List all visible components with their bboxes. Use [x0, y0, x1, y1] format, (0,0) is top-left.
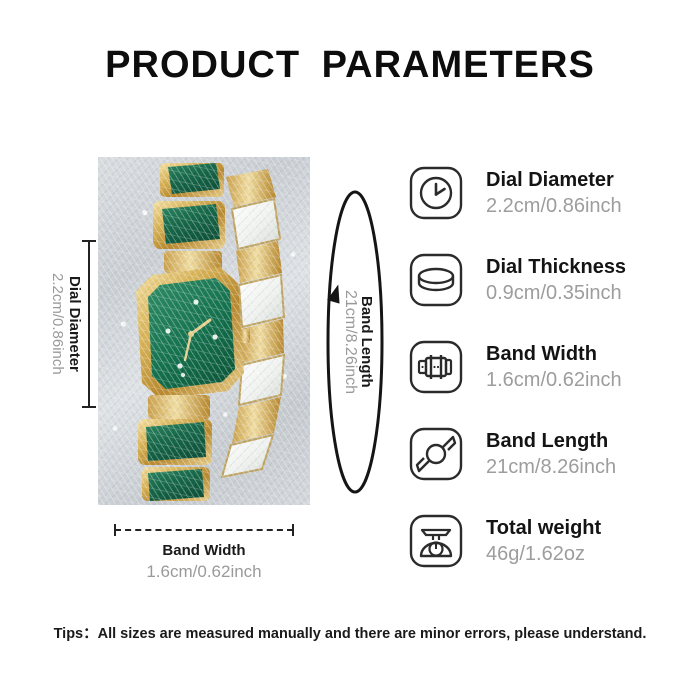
disc-thickness-icon — [408, 252, 464, 308]
spec-label: Band Length — [486, 430, 616, 453]
spec-value: 1.6cm/0.62inch — [486, 368, 622, 392]
clock-icon — [408, 165, 464, 221]
spec-label: Total weight — [486, 517, 601, 540]
band-length-dimension-value: 21cm/8.26inch — [342, 290, 358, 394]
spec-row-total-weight: Total weight 46g/1.62oz — [408, 506, 684, 576]
spec-row-band-length: Band Length 21cm/8.26inch — [408, 419, 684, 489]
band-width-dimension-label: Band Width — [112, 542, 296, 559]
spec-value: 46g/1.62oz — [486, 542, 601, 566]
dial-diameter-dimension: Dial Diameter 2.2cm/0.86inch — [36, 240, 96, 408]
dial-diameter-dimension-label: Dial Diameter — [67, 276, 82, 372]
dimension-line-horizontal-dashed — [115, 529, 293, 531]
dial-diameter-dimension-value: 2.2cm/0.86inch — [50, 273, 65, 375]
spec-label: Band Width — [486, 343, 622, 366]
band-length-dimension: Band Length 21cm/8.26inch — [312, 186, 398, 498]
spec-label: Dial Diameter — [486, 169, 622, 192]
spec-value: 2.2cm/0.86inch — [486, 194, 622, 218]
spec-text-band-width: Band Width 1.6cm/0.62inch — [486, 343, 622, 392]
dimension-line-horizontal-wrap — [112, 524, 296, 536]
spec-value: 0.9cm/0.35inch — [486, 281, 626, 305]
spec-value: 21cm/8.26inch — [486, 455, 616, 479]
watch-strap-icon — [408, 426, 464, 482]
band-length-dimension-label: Band Length — [359, 296, 374, 388]
spec-text-dial-thickness: Dial Thickness 0.9cm/0.35inch — [486, 256, 626, 305]
dimension-cap-bottom — [82, 406, 96, 408]
kitchen-scale-icon — [408, 513, 464, 569]
product-photo — [98, 157, 310, 505]
spec-text-dial-diameter: Dial Diameter 2.2cm/0.86inch — [486, 169, 622, 218]
dial-diameter-dimension-labels: Dial Diameter 2.2cm/0.86inch — [50, 240, 82, 408]
dimension-cap-right — [292, 524, 294, 536]
band-width-dimension: Band Width 1.6cm/0.62inch — [112, 524, 296, 582]
watch-band-buckle-icon — [408, 339, 464, 395]
spec-row-dial-diameter: Dial Diameter 2.2cm/0.86inch — [408, 158, 684, 228]
spec-list: Dial Diameter 2.2cm/0.86inch Dial Thickn… — [408, 158, 684, 593]
footer-tip: Tips：All sizes are measured manually and… — [0, 622, 700, 643]
spec-text-total-weight: Total weight 46g/1.62oz — [486, 517, 601, 566]
spec-text-band-length: Band Length 21cm/8.26inch — [486, 430, 616, 479]
spec-row-dial-thickness: Dial Thickness 0.9cm/0.35inch — [408, 245, 684, 315]
band-length-dimension-labels: Band Length 21cm/8.26inch — [342, 186, 374, 498]
spec-label: Dial Thickness — [486, 256, 626, 279]
band-width-dimension-value: 1.6cm/0.62inch — [112, 562, 296, 582]
page-title: PRODUCT PARAMETERS — [0, 44, 700, 87]
dimension-cap-top — [82, 240, 96, 242]
photo-glitter-texture — [98, 157, 310, 505]
spec-row-band-width: Band Width 1.6cm/0.62inch — [408, 332, 684, 402]
dimension-line-vertical — [88, 240, 90, 408]
